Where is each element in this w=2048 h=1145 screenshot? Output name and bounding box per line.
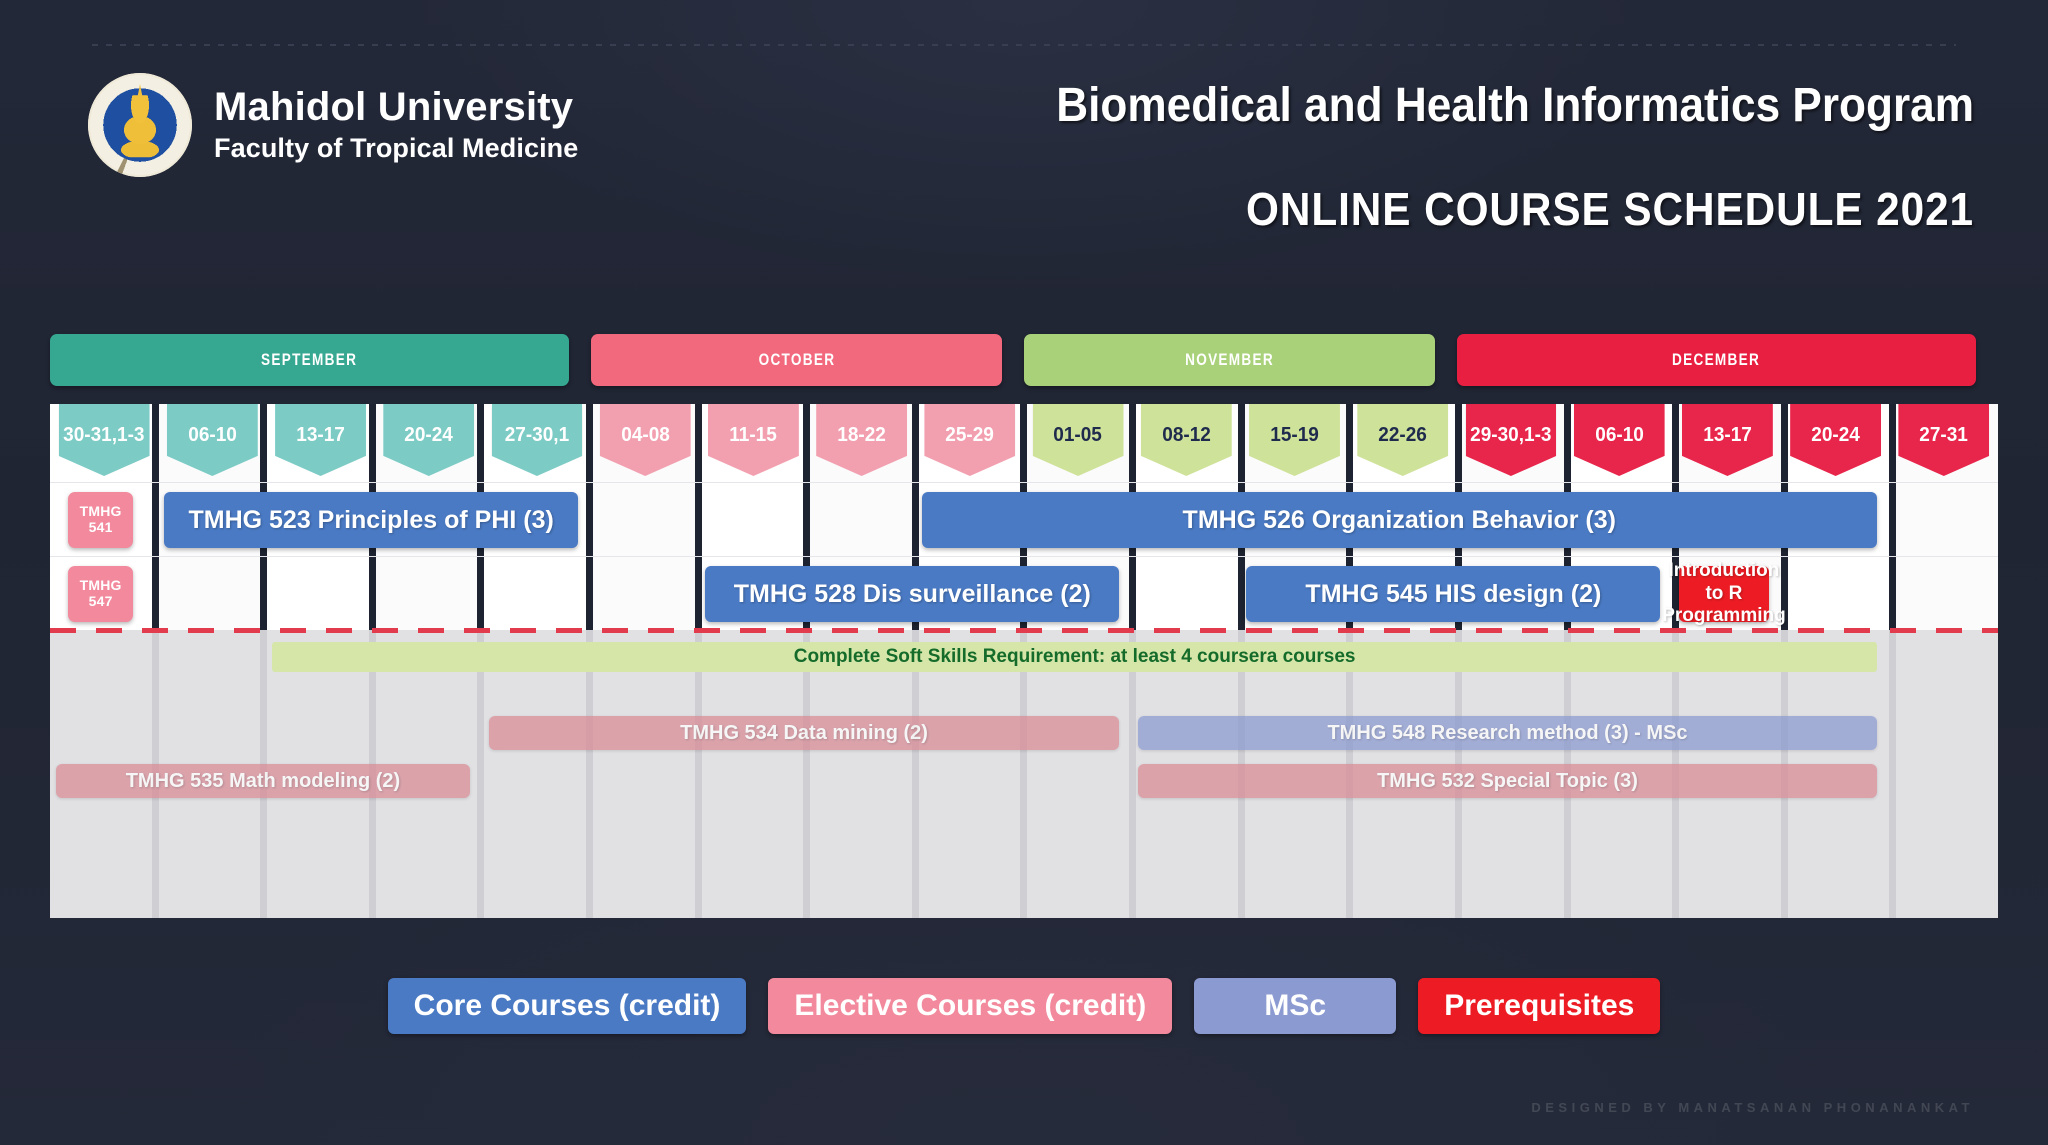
week-cell: 13-17 — [1673, 404, 1781, 482]
week-cell: 20-24 — [1782, 404, 1890, 482]
week-chip-7[interactable]: 11-15 — [708, 404, 799, 476]
prerequisite-chip-tmhg-541[interactable]: TMHG 541 — [68, 492, 133, 548]
week-chip-18[interactable]: 27-31 — [1898, 404, 1989, 476]
week-label: 27-30,1 — [505, 424, 569, 447]
week-label: 13-17 — [296, 424, 345, 447]
course-bar-tmhg-535[interactable]: TMHG 535 Math modeling (2) — [56, 764, 470, 798]
course-bar-tmhg-523[interactable]: TMHG 523 Principles of PHI (3) — [164, 492, 578, 548]
legend-item-elective[interactable]: Elective Courses (credit) — [768, 978, 1172, 1034]
week-label: 22-26 — [1378, 424, 1427, 447]
week-cell: 06-10 — [158, 404, 266, 482]
week-chip-17[interactable]: 20-24 — [1790, 404, 1881, 476]
week-label: 06-10 — [188, 424, 237, 447]
week-cell: 30-31,1-3 — [50, 404, 158, 482]
week-chip-2[interactable]: 06-10 — [167, 404, 258, 476]
course-bar-tmhg-545[interactable]: TMHG 545 HIS design (2) — [1246, 566, 1660, 622]
week-chip-11[interactable]: 08-12 — [1141, 404, 1232, 476]
week-cell: 15-19 — [1240, 404, 1348, 482]
week-cell: 08-12 — [1132, 404, 1240, 482]
week-label: 18-22 — [837, 424, 886, 447]
week-label: 04-08 — [621, 424, 670, 447]
week-cell: 25-29 — [916, 404, 1024, 482]
week-cell: 11-15 — [699, 404, 807, 482]
designer-credit: DESIGNED BY MANATSANAN PHONANANKAT — [1531, 1100, 1974, 1115]
month-header-december[interactable]: DECEMBER — [1457, 334, 1976, 386]
week-chip-1[interactable]: 30-31,1-3 — [59, 404, 150, 476]
month-header-row: SEPTEMBEROCTOBERNOVEMBERDECEMBER — [50, 334, 1998, 386]
week-chip-14[interactable]: 29-30,1-3 — [1466, 404, 1557, 476]
month-label: NOVEMBER — [1185, 350, 1274, 370]
legend-item-msc[interactable]: MSc — [1194, 978, 1396, 1034]
month-header-september[interactable]: SEPTEMBER — [50, 334, 569, 386]
month-label: SEPTEMBER — [261, 350, 357, 370]
month-header-october[interactable]: OCTOBER — [591, 334, 1002, 386]
faculty-name: Faculty of Tropical Medicine — [214, 133, 578, 164]
course-bar-tmhg-526[interactable]: TMHG 526 Organization Behavior (3) — [922, 492, 1877, 548]
course-bar-tmhg-528[interactable]: TMHG 528 Dis surveillance (2) — [705, 566, 1119, 622]
prerequisite-chip-tmhg-547[interactable]: TMHG 547 — [68, 566, 133, 622]
week-chip-6[interactable]: 04-08 — [600, 404, 691, 476]
program-title: Biomedical and Health Informatics Progra… — [158, 78, 1974, 133]
course-bar-tmhg-532[interactable]: TMHG 532 Special Topic (3) — [1138, 764, 1877, 798]
course-bar-introduction-to[interactable]: Introduction to R Programming — [1679, 566, 1768, 622]
week-cell: 22-26 — [1349, 404, 1457, 482]
week-label: 20-24 — [1811, 424, 1860, 447]
course-bar-tmhg-548[interactable]: TMHG 548 Research method (3) - MSc — [1138, 716, 1877, 750]
week-cell: 04-08 — [591, 404, 699, 482]
week-chip-13[interactable]: 22-26 — [1357, 404, 1448, 476]
poster-root: Mahidol University Faculty of Tropical M… — [0, 0, 2048, 1145]
week-label: 20-24 — [404, 424, 453, 447]
week-label: 15-19 — [1270, 424, 1319, 447]
top-dotted-rule — [92, 44, 1956, 46]
legend-item-core[interactable]: Core Courses (credit) — [388, 978, 747, 1034]
week-chip-10[interactable]: 01-05 — [1033, 404, 1124, 476]
week-cell: 01-05 — [1024, 404, 1132, 482]
soft-skill-requirement-bar[interactable]: Complete Soft Skills Requirement: at lea… — [272, 642, 1876, 672]
week-cell: 27-30,1 — [483, 404, 591, 482]
week-label: 30-31,1-3 — [63, 424, 144, 447]
month-label: DECEMBER — [1672, 350, 1760, 370]
week-chip-12[interactable]: 15-19 — [1249, 404, 1340, 476]
month-label: OCTOBER — [758, 350, 835, 370]
week-chip-row: 30-31,1-306-1013-1720-2427-30,104-0811-1… — [50, 404, 1998, 482]
crest-emblem — [119, 95, 161, 157]
week-label: 29-30,1-3 — [1470, 424, 1551, 447]
month-header-november[interactable]: NOVEMBER — [1024, 334, 1435, 386]
course-bar-tmhg-534[interactable]: TMHG 534 Data mining (2) — [489, 716, 1119, 750]
week-cell: 06-10 — [1565, 404, 1673, 482]
legend: Core Courses (credit)Elective Courses (c… — [0, 978, 2048, 1034]
week-label: 27-31 — [1920, 424, 1969, 447]
week-chip-8[interactable]: 18-22 — [816, 404, 907, 476]
week-chip-5[interactable]: 27-30,1 — [492, 404, 583, 476]
week-chip-3[interactable]: 13-17 — [275, 404, 366, 476]
schedule-subtitle: ONLINE COURSE SCHEDULE 2021 — [158, 182, 1974, 236]
week-chip-15[interactable]: 06-10 — [1574, 404, 1665, 476]
week-label: 06-10 — [1595, 424, 1644, 447]
week-cell: 13-17 — [266, 404, 374, 482]
week-label: 13-17 — [1703, 424, 1752, 447]
week-label: 25-29 — [946, 424, 995, 447]
week-label: 08-12 — [1162, 424, 1211, 447]
week-label: 11-15 — [730, 424, 778, 447]
week-chip-4[interactable]: 20-24 — [383, 404, 474, 476]
week-cell: 18-22 — [808, 404, 916, 482]
week-cell: 20-24 — [375, 404, 483, 482]
week-label: 01-05 — [1054, 424, 1103, 447]
week-chip-16[interactable]: 13-17 — [1682, 404, 1773, 476]
week-cell: 27-31 — [1890, 404, 1998, 482]
legend-item-prerequisites[interactable]: Prerequisites — [1418, 978, 1660, 1034]
week-cell: 29-30,1-3 — [1457, 404, 1565, 482]
week-chip-9[interactable]: 25-29 — [924, 404, 1015, 476]
